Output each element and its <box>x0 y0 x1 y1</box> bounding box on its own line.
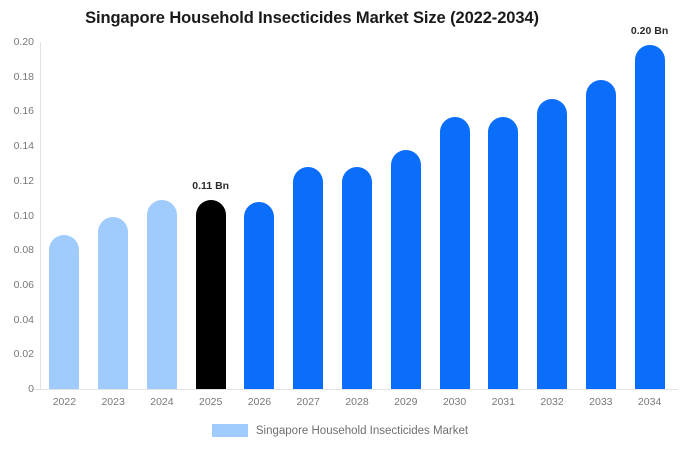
bar-2029[interactable] <box>391 150 421 389</box>
bar-2023[interactable] <box>98 217 128 389</box>
y-axis-tick: 0.10 <box>0 210 34 222</box>
y-axis-tick: 0.14 <box>0 140 34 152</box>
bar-2026[interactable] <box>244 202 274 389</box>
bar-2034[interactable] <box>635 45 665 389</box>
y-axis-tick: 0.06 <box>0 279 34 291</box>
bar-2028[interactable] <box>342 167 372 389</box>
bar-2024[interactable] <box>147 200 177 389</box>
bar-2022[interactable] <box>49 235 79 389</box>
bar-value-label-2025: 0.11 Bn <box>192 180 229 192</box>
y-axis-tick: 0 <box>0 383 34 395</box>
bar-2027[interactable] <box>293 167 323 389</box>
bar-2030[interactable] <box>440 117 470 389</box>
bar-chart: Singapore Household Insecticides Market … <box>0 0 680 450</box>
y-axis-tick: 0.08 <box>0 244 34 256</box>
chart-title: Singapore Household Insecticides Market … <box>0 9 624 28</box>
bar-2025[interactable] <box>196 200 226 389</box>
x-axis-line <box>32 389 678 390</box>
bar-2033[interactable] <box>586 80 616 389</box>
y-axis-tick: 0.18 <box>0 71 34 83</box>
legend-swatch-icon <box>212 424 248 437</box>
plot-area: 0.11 Bn0.20 Bn <box>40 42 674 389</box>
bar-2032[interactable] <box>537 99 567 389</box>
legend-label: Singapore Household Insecticides Market <box>256 425 468 437</box>
bar-value-label-2034: 0.20 Bn <box>631 25 668 37</box>
y-axis-tick: 0.04 <box>0 314 34 326</box>
y-axis-tick: 0.12 <box>0 175 34 187</box>
y-axis-tick: 0.16 <box>0 105 34 117</box>
y-axis-tick: 0.02 <box>0 348 34 360</box>
bar-2031[interactable] <box>488 117 518 389</box>
y-axis-tick: 0.20 <box>0 36 34 48</box>
chart-legend: Singapore Household Insecticides Market <box>0 424 680 437</box>
x-axis-tick-2034: 2034 <box>615 396 680 408</box>
